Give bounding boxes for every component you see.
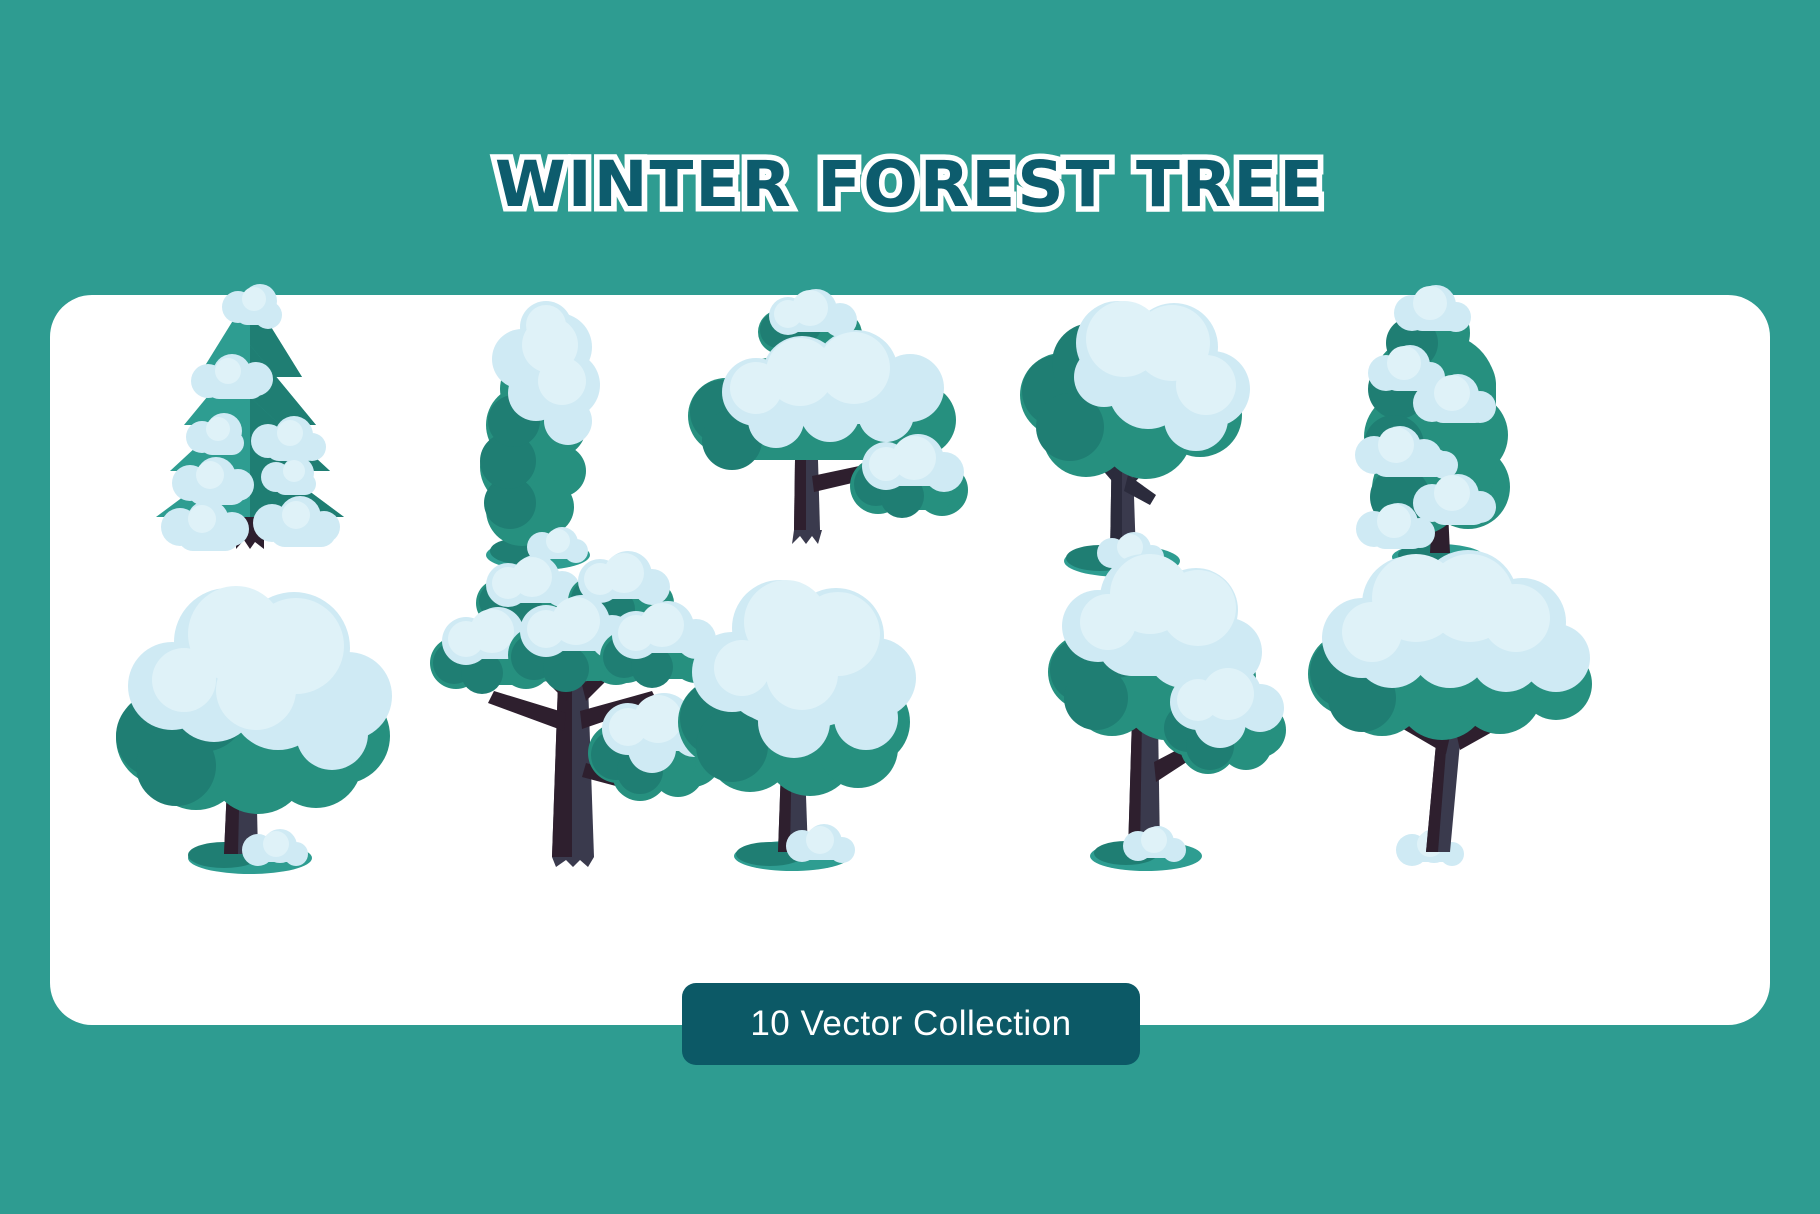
tree-item-tiered-canopy-snow-tree[interactable]	[670, 280, 950, 580]
tree-item-tall-narrow-snow-tree[interactable]	[450, 285, 630, 575]
tiered-canopy-snow-tree-icon	[670, 280, 950, 580]
page-title: WINTER FOREST TREE	[495, 148, 1325, 221]
poster-stage: WINTER FOREST TREE	[0, 0, 1820, 1214]
tree-item-wide-umbrella-snow-tree[interactable]	[1300, 550, 1590, 880]
tree-item-snowy-pine-tree[interactable]	[150, 285, 350, 575]
page-title-container: WINTER FOREST TREE	[0, 148, 1820, 221]
tree-gallery-card	[50, 295, 1770, 1025]
leaning-canopy-snow-tree-icon	[1050, 550, 1310, 880]
tree-item-leaning-canopy-snow-tree[interactable]	[1050, 550, 1310, 880]
bushy-oval-snow-tree-icon	[670, 550, 940, 880]
snowy-pine-tree-icon	[150, 285, 350, 575]
columnar-snow-tree-icon	[1340, 285, 1540, 575]
wide-umbrella-snow-tree-icon	[1300, 550, 1590, 880]
round-canopy-snow-tree-icon	[1000, 285, 1250, 580]
tree-item-broad-round-snow-tree[interactable]	[110, 550, 400, 880]
broad-round-snow-tree-icon	[110, 550, 400, 880]
tree-item-columnar-snow-tree[interactable]	[1340, 285, 1540, 575]
tall-narrow-snow-tree-icon	[450, 285, 630, 575]
tree-item-round-canopy-snow-tree[interactable]	[1000, 285, 1250, 580]
tree-item-bushy-oval-snow-tree[interactable]	[670, 550, 940, 880]
vector-collection-button[interactable]: 10 Vector Collection	[682, 983, 1140, 1065]
